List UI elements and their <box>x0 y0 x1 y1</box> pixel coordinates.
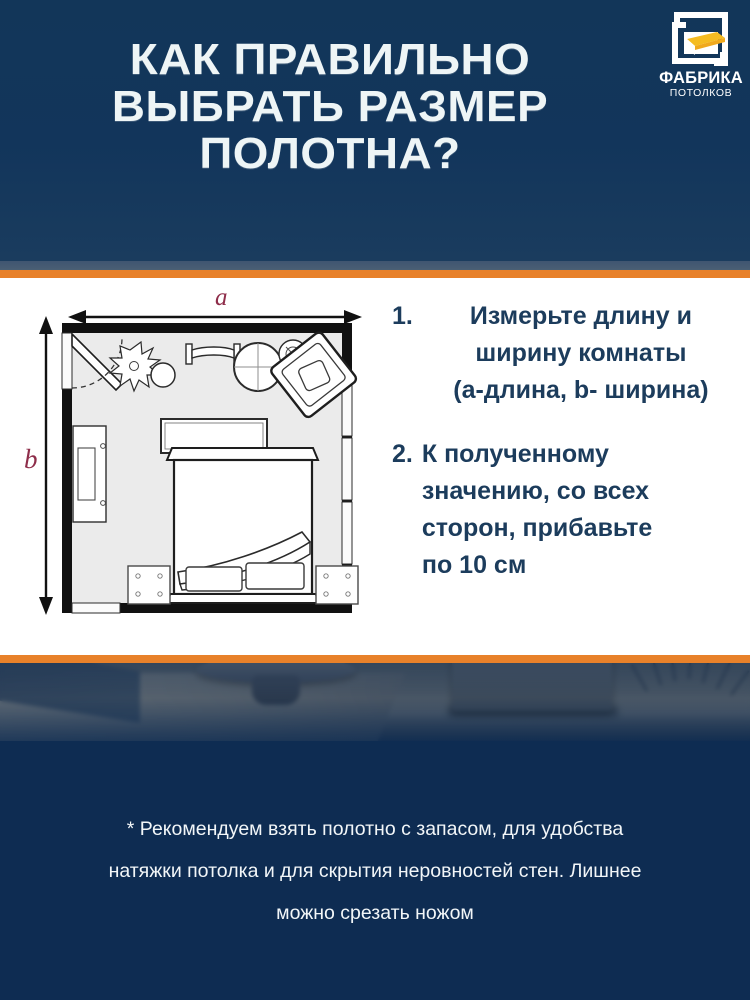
footer-note: * Рекомендуем взять полотно с запасом, д… <box>28 808 722 934</box>
nightstand-left <box>128 566 170 604</box>
step-item-1: 1. Измерьте длину и ширину комнаты (a-дл… <box>392 298 740 409</box>
title-line-1: КАК ПРАВИЛЬНО <box>0 36 673 83</box>
step-line: Измерьте длину и <box>422 298 740 335</box>
nightstand-right <box>316 566 358 604</box>
double-arrow-vertical-icon <box>39 316 53 615</box>
plan-label-b: b <box>24 444 38 474</box>
footer-note-line: можно срезать ножом <box>28 892 722 934</box>
step-line: ширину комнаты <box>422 335 740 372</box>
double-arrow-horizontal-icon <box>68 310 362 324</box>
orange-divider-bottom <box>0 655 750 663</box>
step-item-2: 2. К полученному значению, со всех сторо… <box>392 436 740 584</box>
logo-name: ФАБРИКА <box>659 70 743 87</box>
interior-photo-strip <box>0 663 750 741</box>
round-stool-icon <box>151 363 175 387</box>
step-line: значению, со всех <box>422 473 740 510</box>
footer-note-line: * Рекомендуем взять полотно с запасом, д… <box>28 808 722 850</box>
footer-banner: * Рекомендуем взять полотно с запасом, д… <box>0 741 750 1000</box>
step-body: К полученному значению, со всех сторон, … <box>422 436 740 584</box>
photo-navy-overlay <box>0 663 750 741</box>
orange-divider-top <box>0 270 750 278</box>
plan-label-a: a <box>215 284 228 311</box>
logo-subname: ПОТОЛКОВ <box>659 87 743 100</box>
title-line-3: ПОЛОТНА? <box>0 130 673 177</box>
brand-logo: ФАБРИКА ПОТОЛКОВ <box>659 8 743 100</box>
instruction-steps: 1. Измерьте длину и ширину комнаты (a-дл… <box>392 298 740 611</box>
step-number: 1. <box>392 298 422 409</box>
step-line: (a-длина, b- ширина) <box>422 372 740 409</box>
bed <box>167 448 318 603</box>
step-line: по 10 см <box>422 547 740 584</box>
content-panel: a b <box>0 278 750 655</box>
ceiling-frame-logo-icon <box>668 8 734 68</box>
step-body: Измерьте длину и ширину комнаты (a-длина… <box>422 298 740 409</box>
step-line: сторон, прибавьте <box>422 510 740 547</box>
page-title: КАК ПРАВИЛЬНО ВЫБРАТЬ РАЗМЕР ПОЛОТНА? <box>0 36 660 177</box>
step-number: 2. <box>392 436 422 584</box>
header-banner: КАК ПРАВИЛЬНО ВЫБРАТЬ РАЗМЕР ПОЛОТНА? ФА <box>0 0 750 261</box>
slate-divider <box>0 261 750 270</box>
infographic-page: КАК ПРАВИЛЬНО ВЫБРАТЬ РАЗМЕР ПОЛОТНА? ФА <box>0 0 750 1000</box>
floor-plan-diagram: a b <box>10 278 380 655</box>
dresser-left <box>73 426 106 522</box>
title-line-2: ВЫБРАТЬ РАЗМЕР <box>0 83 673 130</box>
step-line: К полученному <box>422 436 740 473</box>
footer-note-line: натяжки потолка и для скрытия неровносте… <box>28 850 722 892</box>
